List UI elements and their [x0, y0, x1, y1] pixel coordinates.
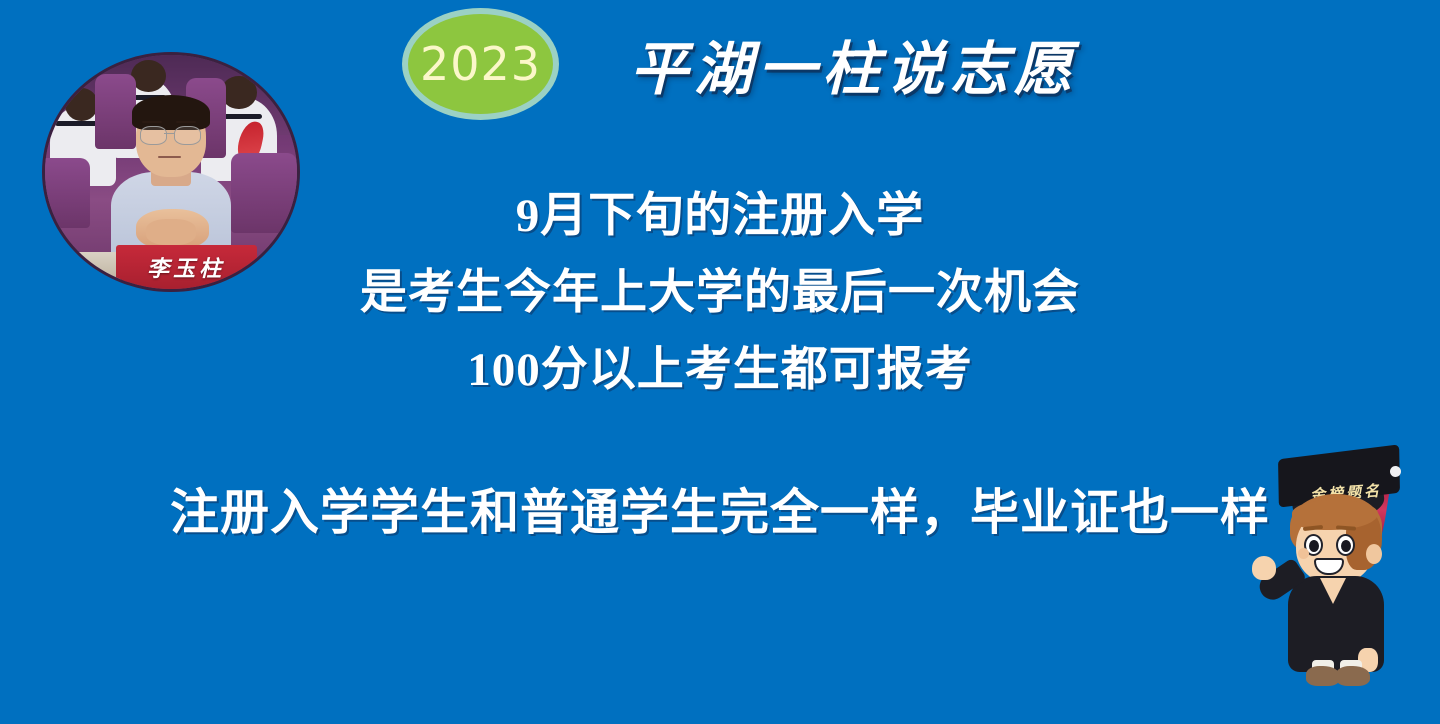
speaker-hair	[132, 95, 210, 130]
background-student-head	[221, 76, 256, 109]
auditorium-seat	[95, 74, 135, 149]
mascot-shoe	[1336, 666, 1370, 686]
mascot-ear	[1366, 544, 1382, 564]
mascot-pupil	[1341, 540, 1351, 552]
main-text-block: 9月下旬的注册入学 是考生今年上大学的最后一次机会 100分以上考生都可报考	[0, 178, 1440, 409]
cap-button	[1390, 466, 1401, 477]
speaker-mouth	[158, 156, 181, 159]
glasses-lens-icon	[174, 126, 201, 144]
main-text-line-2: 是考生今年上大学的最后一次机会	[0, 255, 1440, 332]
graduate-mascot: 金榜题名	[1262, 452, 1440, 696]
mascot-shoe	[1306, 666, 1340, 686]
speaker-eyebrow	[176, 121, 196, 123]
slide-canvas: 李玉柱 2023 平湖一柱说志愿 9月下旬的注册入学 是考生今年上大学的最后一次…	[0, 0, 1440, 724]
main-text-line-1: 9月下旬的注册入学	[0, 178, 1440, 255]
speaker-eyebrow	[142, 121, 162, 123]
page-title: 平湖一柱说志愿	[630, 22, 1078, 106]
year-badge: 2023	[408, 14, 553, 114]
mascot-pupil	[1309, 540, 1319, 552]
glasses-bridge-icon	[164, 133, 174, 135]
mascot-nose	[1298, 548, 1309, 559]
highlight-text-line: 注册入学学生和普通学生完全一样，毕业证也一样	[0, 483, 1440, 543]
year-badge-label: 2023	[420, 41, 541, 87]
mascot-waving-hand	[1252, 556, 1276, 580]
glasses-lens-icon	[140, 126, 167, 144]
main-text-line-3: 100分以上考生都可报考	[0, 332, 1440, 409]
background-student-head	[131, 60, 166, 93]
background-student-head	[65, 88, 98, 121]
